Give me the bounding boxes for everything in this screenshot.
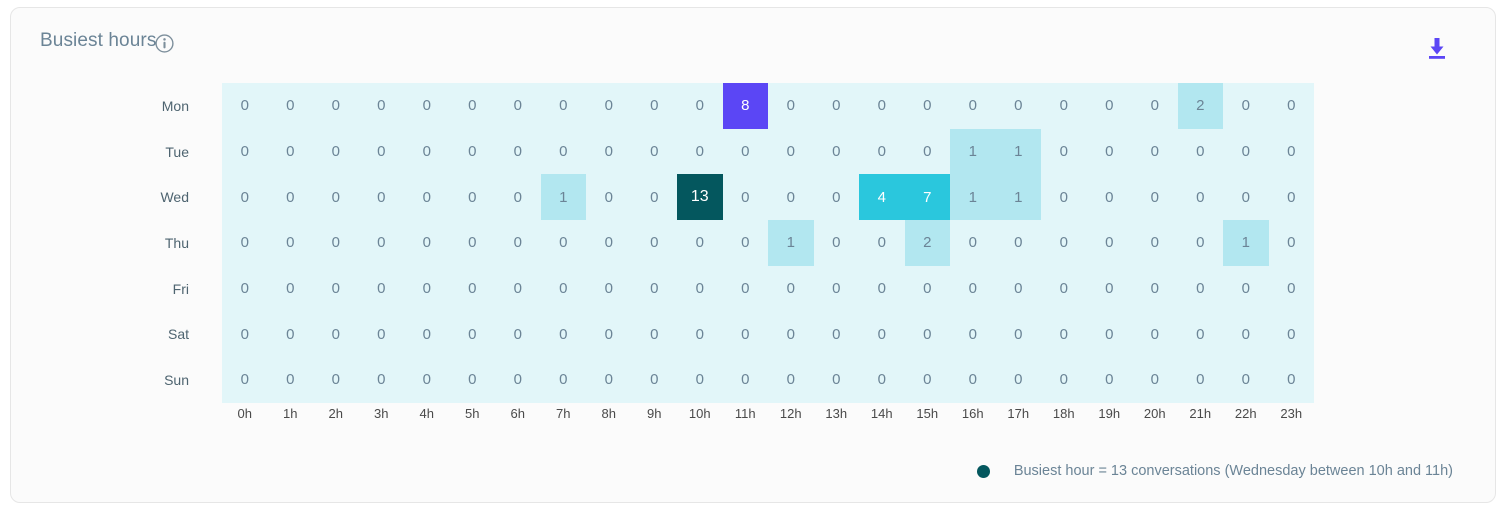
heatmap-cell[interactable]: 0: [586, 266, 632, 312]
heatmap-cell[interactable]: 0: [222, 83, 268, 129]
heatmap-cell[interactable]: 0: [723, 129, 769, 175]
heatmap-cell[interactable]: 0: [905, 83, 951, 129]
heatmap-cell[interactable]: 0: [586, 83, 632, 129]
hour-label: 18h: [1041, 406, 1087, 421]
heatmap-cell[interactable]: 0: [723, 266, 769, 312]
hour-label: 11h: [723, 406, 769, 421]
heatmap-cell[interactable]: 8: [723, 83, 769, 129]
heatmap-cell[interactable]: 0: [586, 311, 632, 357]
heatmap-cell[interactable]: 0: [632, 129, 678, 175]
heatmap-cell[interactable]: 0: [404, 174, 450, 220]
heatmap-cell[interactable]: 0: [1087, 311, 1133, 357]
heatmap-cell[interactable]: 0: [586, 174, 632, 220]
heatmap-cell[interactable]: 0: [905, 129, 951, 175]
heatmap-cell[interactable]: 0: [541, 220, 587, 266]
legend-label: Busiest hour = 13 conversations (Wednesd…: [1014, 463, 1453, 479]
day-label: Fri: [11, 266, 211, 312]
heatmap-grid: 0000000000080000000002000000000000000000…: [222, 83, 1314, 403]
heatmap-cell[interactable]: 0: [768, 129, 814, 175]
heatmap-cell[interactable]: 0: [632, 174, 678, 220]
heatmap-cell[interactable]: 1: [1223, 220, 1269, 266]
heatmap-cell[interactable]: 0: [1269, 266, 1315, 312]
heatmap-cell[interactable]: 0: [404, 357, 450, 403]
heatmap-cell[interactable]: 0: [495, 357, 541, 403]
hour-label: 19h: [1087, 406, 1133, 421]
heatmap-cell[interactable]: 0: [1041, 311, 1087, 357]
hour-label: 15h: [905, 406, 951, 421]
day-axis: Mon Tue Wed Thu Fri Sat Sun: [11, 83, 211, 403]
heatmap-row: 000000000000000000000000: [222, 266, 1314, 312]
heatmap-cell[interactable]: 0: [268, 83, 314, 129]
heatmap-cell[interactable]: 0: [450, 266, 496, 312]
heatmap-cell[interactable]: 0: [359, 311, 405, 357]
heatmap-cell[interactable]: 0: [814, 220, 860, 266]
heatmap-cell[interactable]: 0: [632, 83, 678, 129]
heatmap-cell[interactable]: 0: [222, 311, 268, 357]
heatmap-cell[interactable]: 0: [359, 220, 405, 266]
hour-label: 16h: [950, 406, 996, 421]
heatmap-cell[interactable]: 0: [1041, 83, 1087, 129]
hour-label: 9h: [632, 406, 678, 421]
heatmap-cell[interactable]: 0: [1178, 311, 1224, 357]
busiest-hours-page: Busiest hours Mon Tue Wed Thu: [0, 0, 1508, 514]
heatmap-cell[interactable]: 0: [268, 220, 314, 266]
heatmap-cell[interactable]: 0: [404, 220, 450, 266]
heatmap-cell[interactable]: 0: [1178, 220, 1224, 266]
heatmap-cell[interactable]: 0: [1223, 266, 1269, 312]
heatmap-cell[interactable]: 0: [450, 129, 496, 175]
heatmap-cell[interactable]: 0: [541, 266, 587, 312]
heatmap-cell[interactable]: 1: [950, 129, 996, 175]
heatmap-row: 000000000000100200000010: [222, 220, 1314, 266]
heatmap-cell[interactable]: 0: [677, 83, 723, 129]
heatmap-cell[interactable]: 0: [1132, 220, 1178, 266]
hour-label: 22h: [1223, 406, 1269, 421]
hour-label: 8h: [586, 406, 632, 421]
heatmap-cell[interactable]: 0: [495, 83, 541, 129]
heatmap-cell[interactable]: 0: [313, 174, 359, 220]
heatmap-cell[interactable]: 0: [1132, 129, 1178, 175]
heatmap-cell[interactable]: 0: [723, 311, 769, 357]
heatmap-cell[interactable]: 0: [723, 220, 769, 266]
hour-label: 10h: [677, 406, 723, 421]
heatmap-cell[interactable]: 0: [586, 357, 632, 403]
heatmap-cell[interactable]: 0: [677, 266, 723, 312]
heatmap-cell[interactable]: 0: [404, 311, 450, 357]
hour-label: 2h: [313, 406, 359, 421]
heatmap-cell[interactable]: 0: [768, 357, 814, 403]
heatmap-cell[interactable]: 0: [632, 311, 678, 357]
heatmap-cell[interactable]: 0: [1223, 311, 1269, 357]
day-label: Tue: [11, 129, 211, 175]
heatmap-cell[interactable]: 0: [1041, 357, 1087, 403]
heatmap-cell[interactable]: 0: [1223, 174, 1269, 220]
heatmap-cell[interactable]: 0: [632, 220, 678, 266]
heatmap-cell[interactable]: 0: [313, 311, 359, 357]
heatmap-cell[interactable]: 0: [359, 357, 405, 403]
heatmap-row: 000000000000000000000000: [222, 357, 1314, 403]
heatmap-cell[interactable]: 0: [1041, 220, 1087, 266]
heatmap-cell[interactable]: 0: [1132, 174, 1178, 220]
day-label: Mon: [11, 83, 211, 129]
heatmap-cell[interactable]: 0: [359, 129, 405, 175]
heatmap-cell[interactable]: 0: [1178, 129, 1224, 175]
heatmap-cell[interactable]: 1: [950, 174, 996, 220]
page-title: Busiest hours: [40, 30, 156, 52]
heatmap-cell[interactable]: 0: [859, 129, 905, 175]
heatmap-cell[interactable]: 0: [950, 220, 996, 266]
heatmap-cell[interactable]: 0: [268, 357, 314, 403]
hour-label: 20h: [1132, 406, 1178, 421]
heatmap-cell[interactable]: 0: [1041, 129, 1087, 175]
heatmap-cell[interactable]: 0: [1041, 266, 1087, 312]
hour-label: 13h: [814, 406, 860, 421]
heatmap-cell[interactable]: 0: [996, 357, 1042, 403]
day-label: Sat: [11, 311, 211, 357]
heatmap-cell[interactable]: 0: [814, 266, 860, 312]
heatmap-cell[interactable]: 0: [1269, 129, 1315, 175]
heatmap-cell[interactable]: 0: [1087, 220, 1133, 266]
heatmap-cell[interactable]: 0: [1269, 174, 1315, 220]
heatmap-cell[interactable]: 0: [996, 220, 1042, 266]
heatmap-cell[interactable]: 0: [222, 129, 268, 175]
heatmap-cell[interactable]: 0: [632, 266, 678, 312]
hour-label: 1h: [268, 406, 314, 421]
heatmap-cell[interactable]: 0: [1087, 129, 1133, 175]
info-circle-icon[interactable]: [155, 34, 174, 53]
heatmap-cell[interactable]: 0: [450, 220, 496, 266]
heatmap-cell[interactable]: 0: [586, 220, 632, 266]
heatmap-cell[interactable]: 0: [359, 266, 405, 312]
heatmap-cell[interactable]: 0: [1132, 266, 1178, 312]
hour-label: 14h: [859, 406, 905, 421]
heatmap-cell[interactable]: 0: [723, 357, 769, 403]
heatmap-cell[interactable]: 0: [950, 266, 996, 312]
heatmap-cell[interactable]: 0: [450, 83, 496, 129]
heatmap-cell[interactable]: 0: [268, 311, 314, 357]
heatmap-cell[interactable]: 0: [905, 311, 951, 357]
heatmap-cell[interactable]: 0: [859, 357, 905, 403]
heatmap-cell[interactable]: 0: [1178, 174, 1224, 220]
heatmap-cell[interactable]: 1: [768, 220, 814, 266]
hour-label: 7h: [541, 406, 587, 421]
hour-label: 12h: [768, 406, 814, 421]
heatmap-cell[interactable]: 0: [1087, 266, 1133, 312]
hour-label: 17h: [996, 406, 1042, 421]
heatmap-cell[interactable]: 0: [222, 220, 268, 266]
heatmap-cell[interactable]: 7: [905, 174, 951, 220]
heatmap-cell[interactable]: 0: [1132, 311, 1178, 357]
heatmap-cell[interactable]: 0: [495, 174, 541, 220]
heatmap-cell[interactable]: 0: [1087, 83, 1133, 129]
heatmap-cell[interactable]: 0: [541, 311, 587, 357]
heatmap-cell[interactable]: 0: [359, 83, 405, 129]
heatmap-cell[interactable]: 0: [677, 220, 723, 266]
heatmap-row: 000000000000000000000000: [222, 311, 1314, 357]
card-header: Busiest hours: [11, 8, 1495, 78]
heatmap-cell[interactable]: 1: [541, 174, 587, 220]
heatmap-cell[interactable]: 2: [905, 220, 951, 266]
heatmap-cell[interactable]: 0: [268, 129, 314, 175]
heatmap-cell[interactable]: 0: [996, 83, 1042, 129]
heatmap-cell[interactable]: 0: [495, 266, 541, 312]
heatmap-cell[interactable]: 13: [677, 174, 723, 220]
heatmap-cell[interactable]: 0: [768, 266, 814, 312]
hour-label: 23h: [1269, 406, 1315, 421]
heatmap-cell[interactable]: 0: [950, 311, 996, 357]
heatmap-cell[interactable]: 0: [1087, 357, 1133, 403]
heatmap-cell[interactable]: 0: [222, 357, 268, 403]
heatmap-cell[interactable]: 0: [313, 357, 359, 403]
heatmap-cell[interactable]: 0: [586, 129, 632, 175]
hour-label: 0h: [222, 406, 268, 421]
heatmap-cell[interactable]: 0: [905, 266, 951, 312]
hour-label: 6h: [495, 406, 541, 421]
heatmap-cell[interactable]: 0: [814, 311, 860, 357]
heatmap-cell[interactable]: 0: [541, 357, 587, 403]
heatmap-cell[interactable]: 0: [814, 357, 860, 403]
heatmap-cell[interactable]: 0: [950, 357, 996, 403]
heatmap-cell[interactable]: 0: [268, 174, 314, 220]
heatmap-cell[interactable]: 0: [404, 129, 450, 175]
heatmap-cell[interactable]: 0: [677, 357, 723, 403]
heatmap-cell[interactable]: 0: [950, 83, 996, 129]
heatmap-row: 000000000000000011000000: [222, 129, 1314, 175]
heatmap-cell[interactable]: 0: [222, 266, 268, 312]
day-label: Sun: [11, 357, 211, 403]
heatmap-cell[interactable]: 0: [1269, 220, 1315, 266]
heatmap-cell[interactable]: 1: [996, 174, 1042, 220]
heatmap-cell[interactable]: 0: [450, 311, 496, 357]
heatmap-cell[interactable]: 0: [1178, 266, 1224, 312]
heatmap-cell[interactable]: 0: [1223, 129, 1269, 175]
heatmap-cell[interactable]: 0: [404, 266, 450, 312]
busiest-hours-card: Busiest hours Mon Tue Wed Thu: [10, 7, 1496, 503]
hour-label: 21h: [1178, 406, 1224, 421]
heatmap-cell[interactable]: 0: [495, 129, 541, 175]
heatmap-cell[interactable]: 0: [677, 129, 723, 175]
heatmap-cell[interactable]: 4: [859, 174, 905, 220]
heatmap-cell[interactable]: 0: [450, 174, 496, 220]
heatmap-cell[interactable]: 0: [859, 266, 905, 312]
hour-axis: 0h1h2h3h4h5h6h7h8h9h10h11h12h13h14h15h16…: [222, 406, 1314, 421]
heatmap-cell[interactable]: 0: [859, 220, 905, 266]
heatmap-cell[interactable]: 0: [859, 311, 905, 357]
heatmap-cell[interactable]: 0: [313, 83, 359, 129]
heatmap-cell[interactable]: 0: [359, 174, 405, 220]
heatmap-cell[interactable]: 0: [768, 311, 814, 357]
heatmap-cell[interactable]: 0: [1269, 83, 1315, 129]
heatmap-cell[interactable]: 0: [723, 174, 769, 220]
day-label: Wed: [11, 174, 211, 220]
heatmap-cell[interactable]: 0: [495, 311, 541, 357]
heatmap-cell[interactable]: 0: [814, 129, 860, 175]
heatmap-cell[interactable]: 0: [768, 83, 814, 129]
heatmap-cell[interactable]: 0: [404, 83, 450, 129]
heatmap-cell[interactable]: 1: [996, 129, 1042, 175]
heatmap-cell[interactable]: 0: [495, 220, 541, 266]
heatmap-cell[interactable]: 0: [313, 129, 359, 175]
heatmap-cell[interactable]: 0: [677, 311, 723, 357]
heatmap-cell[interactable]: 0: [814, 174, 860, 220]
heatmap-row: 000000000008000000000200: [222, 83, 1314, 129]
heatmap-cell[interactable]: 0: [1223, 357, 1269, 403]
hour-label: 3h: [359, 406, 405, 421]
hour-label: 5h: [450, 406, 496, 421]
heatmap-cell[interactable]: 0: [313, 220, 359, 266]
hour-label: 4h: [404, 406, 450, 421]
heatmap-cell[interactable]: 0: [1269, 357, 1315, 403]
heatmap-cell[interactable]: 0: [632, 357, 678, 403]
download-icon[interactable]: [1423, 34, 1451, 62]
heatmap-cell[interactable]: 0: [1178, 357, 1224, 403]
heatmap-cell[interactable]: 0: [541, 83, 587, 129]
heatmap-cell[interactable]: 0: [450, 357, 496, 403]
heatmap-cell[interactable]: 0: [768, 174, 814, 220]
legend-dot-icon: [977, 465, 990, 478]
heatmap-cell[interactable]: 0: [222, 174, 268, 220]
heatmap-cell[interactable]: 0: [905, 357, 951, 403]
heatmap-cell[interactable]: 0: [1269, 311, 1315, 357]
heatmap-cell[interactable]: 0: [996, 311, 1042, 357]
legend: Busiest hour = 13 conversations (Wednesd…: [977, 463, 1453, 479]
heatmap-cell[interactable]: 0: [1223, 83, 1269, 129]
heatmap-row: 0000000100130004711000000: [222, 174, 1314, 220]
heatmap-cell[interactable]: 0: [1132, 357, 1178, 403]
heatmap-cell[interactable]: 0: [268, 266, 314, 312]
day-label: Thu: [11, 220, 211, 266]
heatmap-cell[interactable]: 0: [859, 83, 905, 129]
heatmap-cell[interactable]: 0: [313, 266, 359, 312]
heatmap-cell[interactable]: 0: [541, 129, 587, 175]
heatmap-cell[interactable]: 0: [814, 83, 860, 129]
heatmap-cell[interactable]: 0: [1132, 83, 1178, 129]
heatmap-cell[interactable]: 0: [996, 266, 1042, 312]
heatmap-cell[interactable]: 2: [1178, 83, 1224, 129]
heatmap-cell[interactable]: 0: [1041, 174, 1087, 220]
heatmap-cell[interactable]: 0: [1087, 174, 1133, 220]
